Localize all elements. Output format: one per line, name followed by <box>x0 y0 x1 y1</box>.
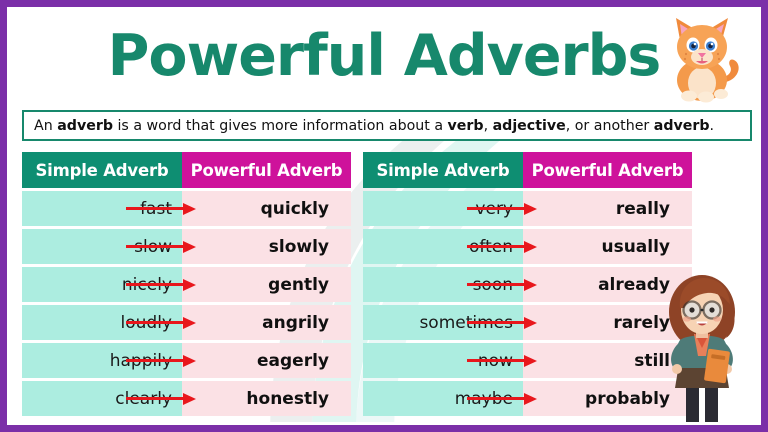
table-row: nicely gently <box>22 267 351 302</box>
simple-adverb-word: happily <box>110 351 172 371</box>
teacher-icon <box>646 272 758 422</box>
cell-powerful-adverb: quickly <box>182 191 351 226</box>
simple-adverb-word: sometimes <box>419 313 513 333</box>
cell-simple-adverb: often <box>363 229 523 264</box>
cat-icon <box>660 12 746 104</box>
simple-adverb-word: slow <box>134 237 172 257</box>
cell-powerful-adverb: usually <box>523 229 692 264</box>
simple-adverb-word: clearly <box>115 389 172 409</box>
column-header-powerful-adverb: Powerful Adverb <box>523 152 692 188</box>
column-header-simple-adverb: Simple Adverb <box>22 152 182 188</box>
definition-term-verb: verb <box>448 118 484 134</box>
simple-adverb-word: very <box>475 199 513 219</box>
definition-term-adjective: adjective <box>493 118 566 134</box>
table-row: sometimes rarely <box>363 305 692 340</box>
powerful-adverb-word: quickly <box>261 199 329 219</box>
cell-simple-adverb: sometimes <box>363 305 523 340</box>
poster: Powerful Adverbs <box>0 0 768 432</box>
simple-adverb-word: nicely <box>122 275 172 295</box>
powerful-adverb-word: angrily <box>262 313 329 333</box>
cell-simple-adverb: very <box>363 191 523 226</box>
simple-adverb-word: now <box>478 351 513 371</box>
column-header-simple-adverb: Simple Adverb <box>363 152 523 188</box>
table-row: slow slowly <box>22 229 351 264</box>
table-row: often usually <box>363 229 692 264</box>
definition-suffix: . <box>710 118 715 134</box>
table-header-row: Simple Adverb Powerful Adverb <box>22 152 351 188</box>
definition-text: An adverb is a word that gives more info… <box>34 118 714 134</box>
table-row: loudly angrily <box>22 305 351 340</box>
table-row: very really <box>363 191 692 226</box>
simple-adverb-word: loudly <box>121 313 172 333</box>
powerful-adverb-word: really <box>616 199 670 219</box>
page-title: Powerful Adverbs <box>108 28 661 85</box>
definition-term-adverb-2: adverb <box>654 118 710 134</box>
definition-term-adverb-1: adverb <box>57 118 113 134</box>
table-row: soon already <box>363 267 692 302</box>
simple-adverb-word: soon <box>473 275 513 295</box>
table-row: now still <box>363 343 692 378</box>
cell-simple-adverb: soon <box>363 267 523 302</box>
cell-simple-adverb: fast <box>22 191 182 226</box>
cell-simple-adverb: loudly <box>22 305 182 340</box>
cell-powerful-adverb: gently <box>182 267 351 302</box>
simple-adverb-word: fast <box>140 199 172 219</box>
cell-powerful-adverb: angrily <box>182 305 351 340</box>
table-row: maybe probably <box>363 381 692 416</box>
definition-mid-1: is a word that gives more information ab… <box>113 118 448 134</box>
adverb-table-right: Simple Adverb Powerful Adverb very reall… <box>363 152 692 424</box>
powerful-adverb-word: slowly <box>269 237 329 257</box>
column-header-powerful-adverb: Powerful Adverb <box>182 152 351 188</box>
definition-mid-3: , or another <box>566 118 654 134</box>
powerful-adverb-word: gently <box>268 275 329 295</box>
cell-simple-adverb: slow <box>22 229 182 264</box>
cell-powerful-adverb: slowly <box>182 229 351 264</box>
definition-mid-2: , <box>484 118 493 134</box>
simple-adverb-word: maybe <box>455 389 513 409</box>
table-row: clearly honestly <box>22 381 351 416</box>
cell-simple-adverb: clearly <box>22 381 182 416</box>
adverb-table-left: Simple Adverb Powerful Adverb fast quick… <box>22 152 351 424</box>
definition-prefix: An <box>34 118 57 134</box>
table-row: happily eagerly <box>22 343 351 378</box>
table-header-row: Simple Adverb Powerful Adverb <box>363 152 692 188</box>
powerful-adverb-word: honestly <box>246 389 329 409</box>
simple-adverb-word: often <box>469 237 513 257</box>
poster-inner-frame: Powerful Adverbs <box>7 7 761 425</box>
title-row: Powerful Adverbs <box>10 14 758 98</box>
powerful-adverb-word: usually <box>601 237 670 257</box>
cell-simple-adverb: maybe <box>363 381 523 416</box>
cell-simple-adverb: now <box>363 343 523 378</box>
cell-simple-adverb: nicely <box>22 267 182 302</box>
cell-powerful-adverb: really <box>523 191 692 226</box>
powerful-adverb-word: eagerly <box>257 351 329 371</box>
cell-simple-adverb: happily <box>22 343 182 378</box>
table-row: fast quickly <box>22 191 351 226</box>
definition-box: An adverb is a word that gives more info… <box>22 110 752 141</box>
cell-powerful-adverb: eagerly <box>182 343 351 378</box>
cell-powerful-adverb: honestly <box>182 381 351 416</box>
